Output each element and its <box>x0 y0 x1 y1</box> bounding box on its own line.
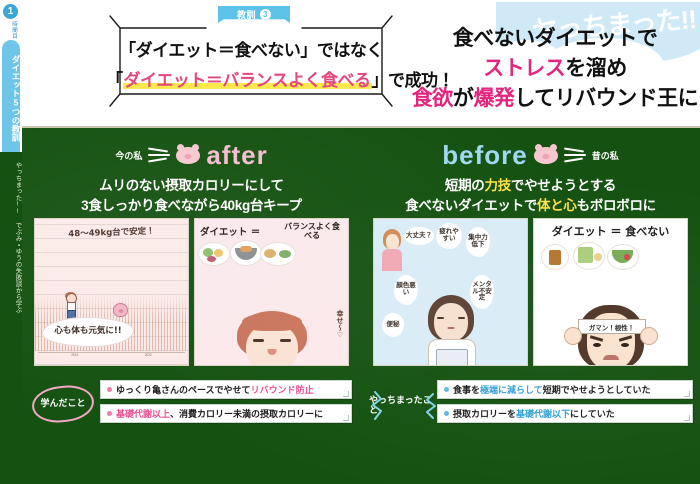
snack-pack-icon <box>574 243 604 269</box>
lesson-badge-number: 3 <box>260 9 271 20</box>
pig-face-icon <box>534 147 558 164</box>
happy-girl-face <box>237 311 307 366</box>
chapter-sidebar: 1 時間目 ダイエット5つの教訓 やっちまった!! でぶみ・ゆうの失敗談から学ぶ <box>0 0 22 484</box>
bullet-highlight: 基礎代謝以上 <box>116 407 170 420</box>
bracket-frame <box>106 14 396 108</box>
food-bowl-icon <box>231 241 261 265</box>
after-panels: 48〜49kg台で安定！ 心も体も元気に!! 2013 2022 ダイエット ＝… <box>34 218 349 366</box>
bullet-pre: 食事を <box>453 383 480 396</box>
chapter-unit-label: 時間目 <box>5 21 17 39</box>
list-item: ゆっくり亀さんのペースでやせてリバウンド防止 <box>100 380 352 399</box>
lesson-highlight: ダイエット＝バランスよく食べる <box>123 71 372 90</box>
speed-lines-icon <box>148 148 170 162</box>
symptom-bubble: 便秘 <box>382 313 404 337</box>
lesson-quote-open: 「 <box>106 71 123 90</box>
graph-year-start: 2013 <box>71 353 78 357</box>
panel-gaman: ダイエット ＝ 食べない ガマン！根性！ <box>533 218 688 366</box>
lesson-badge-text: 教訓 <box>237 8 256 21</box>
chapter-number-badge: 1 <box>3 4 18 19</box>
before-panels: 大丈夫？ 疲れやすい 集中力低下 メンタル不安定 顔色悪い 便秘 ダイエット ＝… <box>373 218 688 366</box>
list-item: 食事を極端に減らして短期でやせようとしていた <box>437 380 693 399</box>
column-after: 今の私 after ムリのない摂取カロリーにして 3食しっかり食べながら40kg… <box>22 128 361 484</box>
food-set-meal-icon <box>261 243 295 265</box>
sidebar-tab-label: ダイエット5つの教訓 <box>2 46 20 150</box>
learned-label-ring <box>30 383 95 425</box>
headline-line-2-pink: ストレス <box>483 57 565 80</box>
symptom-bubble: 顔色悪い <box>394 275 418 305</box>
bullet-highlight: 極端に減らして <box>480 383 543 396</box>
after-sub-line-2: 3食しっかり食べながら40kg台キープ <box>22 194 361 214</box>
panel-symptoms: 大丈夫？ 疲れやすい 集中力低下 メンタル不安定 顔色悪い 便秘 <box>373 218 528 366</box>
panel-balanced-eating: ダイエット ＝ バランスよく食べる 幸せ〜♡ <box>194 218 349 366</box>
headline-line-3-a: 食欲 <box>412 87 453 110</box>
after-word: after <box>206 142 267 168</box>
before-sub1-b: でやせようとする <box>511 178 616 193</box>
bullet-post: にしていた <box>570 407 615 420</box>
page-header: 教訓 3 「ダイエット＝食べない」ではなく 「ダイエット＝バランスよく食べる」で… <box>22 0 700 128</box>
determined-girl-figure: ガマン！根性！ <box>572 297 650 366</box>
tired-girl-figure <box>420 291 482 365</box>
headline-line-3-c: 爆発 <box>473 87 514 110</box>
graph-year-end: 2022 <box>145 353 152 357</box>
lesson-callout: 教訓 3 「ダイエット＝食べない」ではなく 「ダイエット＝バランスよく食べる」で… <box>106 14 396 108</box>
pig-face-icon <box>176 147 200 164</box>
bullet-dot-icon <box>444 387 449 392</box>
panel-weight-graph: 48〜49kg台で安定！ 心も体も元気に!! 2013 2022 <box>34 218 189 366</box>
before-sub2-highlight: 体と心 <box>537 198 577 213</box>
girl-running-figure <box>65 293 76 319</box>
right-fist-icon <box>640 327 658 345</box>
failed-label-burst <box>369 386 439 424</box>
bullet-pre: ゆっくり亀さんのペースでやせて <box>116 383 251 396</box>
chalkboard-area: 今の私 after ムリのない摂取カロリーにして 3食しっかり食べながら40kg… <box>22 128 700 484</box>
column-before: before 昔の私 短期の力技でやせようとする 食べないダイエットで体と心もボ… <box>361 128 700 484</box>
before-sub1-highlight: 力技 <box>485 178 511 193</box>
gaman-title: ダイエット ＝ 食べない <box>534 223 687 239</box>
bullet-post: 、消費カロリー未満の摂取カロリーに <box>170 407 323 420</box>
before-sub-line-2: 食べないダイエットで体と心もボロボロに <box>361 194 700 214</box>
learned-label: 学んだこと <box>32 386 94 422</box>
speed-lines-icon <box>564 148 586 162</box>
book-page-spread: 1 時間目 ダイエット5つの教訓 やっちまった!! でぶみ・ゆうの失敗談から学ぶ… <box>0 0 700 484</box>
balanced-title-2: バランスよく食べる <box>282 222 342 240</box>
before-sub2-b: もボロボロに <box>577 198 656 213</box>
sidebar-running-title: やっちまった!! でぶみ・ゆうの失敗談から学ぶ <box>0 152 22 484</box>
bullet-dot-icon <box>107 387 112 392</box>
after-sub-line-1: ムリのない摂取カロリーにして <box>22 174 361 194</box>
headline-line-3: 食欲が爆発してリバウンド王に <box>410 82 700 112</box>
salad-bowl-icon <box>608 245 638 269</box>
failed-bullets: 食事を極端に減らして短期でやせようとしていた 摂取カロリーを基礎代謝以下にしてい… <box>437 380 693 428</box>
graph-x-axis: 2013 2022 <box>38 352 185 363</box>
before-sub2-a: 食べないダイエットで <box>405 198 537 213</box>
bullet-dot-icon <box>444 411 449 416</box>
bullet-post: 短期でやせようとしていた <box>543 383 651 396</box>
lesson-line-2: 「ダイエット＝バランスよく食べる」で成功！ <box>106 66 396 91</box>
before-tag: 昔の私 <box>592 149 619 162</box>
left-fist-icon <box>564 327 582 345</box>
symptom-bubble: 大丈夫？ <box>404 227 434 245</box>
headline-line-1: 食べないダイエットで <box>410 22 700 52</box>
after-heading-row: 今の私 after <box>22 140 361 170</box>
headline-line-3-d: してリバウンド王に <box>514 87 698 110</box>
graph-speech-bubble: 心も体も元気に!! <box>42 317 134 347</box>
after-tag: 今の私 <box>115 149 142 162</box>
headband-text: ガマン！根性！ <box>578 319 646 334</box>
before-word: before <box>442 142 527 168</box>
headline-line-2: ストレスを溜め <box>410 52 700 82</box>
drink-icon <box>542 245 568 269</box>
symptom-bubble: 集中力低下 <box>466 227 490 257</box>
sidebar-running-title-label: やっちまった!! でぶみ・ゆうの失敗談から学ぶ <box>2 162 20 462</box>
balanced-side-note: 幸せ〜♡ <box>335 310 345 339</box>
sidebar-tab-lessons[interactable]: ダイエット5つの教訓 <box>2 40 20 152</box>
header-headline-block: ヤっちまった!! 食べないダイエットで ストレスを溜め 食欲が爆発してリバウンド… <box>410 8 700 120</box>
failed-label: やっちまったこと <box>369 386 439 424</box>
before-heading-row: before 昔の私 <box>361 140 700 170</box>
pig-figure <box>113 303 128 317</box>
headline-line-3-b: が <box>453 87 474 110</box>
bullet-highlight: 基礎代謝以下 <box>516 407 570 420</box>
food-plate-icon <box>199 243 229 265</box>
bullet-dot-icon <box>107 411 112 416</box>
learned-bullets: ゆっくり亀さんのペースでやせてリバウンド防止 基礎代謝以上、消費カロリー未満の摂… <box>100 380 352 428</box>
list-item: 摂取カロリーを基礎代謝以下にしていた <box>437 404 693 423</box>
symptom-bubble: 疲れやすい <box>436 223 462 249</box>
bullet-pre: 摂取カロリーを <box>453 407 516 420</box>
before-sub1-a: 短期の <box>445 178 485 193</box>
worried-friend-figure <box>378 229 406 275</box>
before-sub-line-1: 短期の力技でやせようとする <box>361 174 700 194</box>
bullet-highlight: リバウンド防止 <box>251 383 314 396</box>
headline-line-2-rest: を溜め <box>565 57 627 80</box>
list-item: 基礎代謝以上、消費カロリー未満の摂取カロリーに <box>100 404 352 423</box>
lesson-line-1: 「ダイエット＝食べない」ではなく <box>106 36 396 61</box>
